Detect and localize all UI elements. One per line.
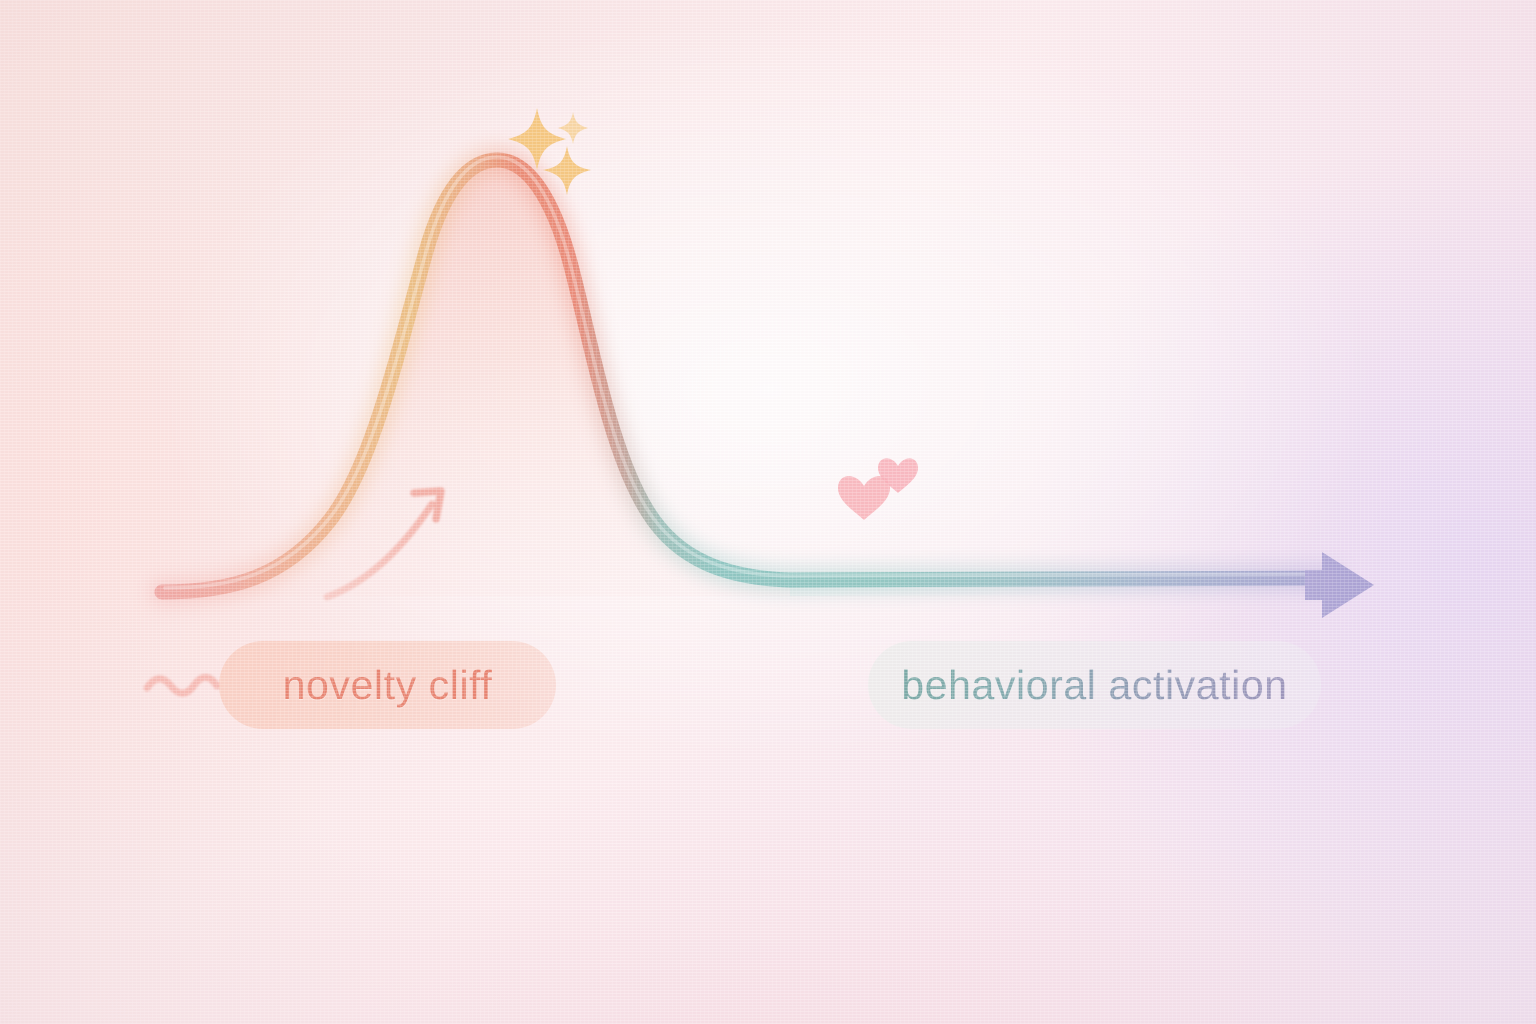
label-text-behavioral-activation: behavioral activation [901,662,1287,709]
curve-artwork [0,0,1536,1024]
illustration-canvas: novelty cliff behavioral activation [0,0,1536,1024]
curve-glow [162,160,1330,592]
squiggle-icon [147,677,217,693]
label-text-novelty-cliff: novelty cliff [283,662,493,709]
heart-large [838,476,890,520]
label-pill-novelty-cliff[interactable]: novelty cliff [219,641,556,729]
label-pill-behavioral-activation[interactable]: behavioral activation [868,641,1321,729]
heart-cluster [838,458,918,520]
forward-arrow-icon [1305,552,1374,618]
